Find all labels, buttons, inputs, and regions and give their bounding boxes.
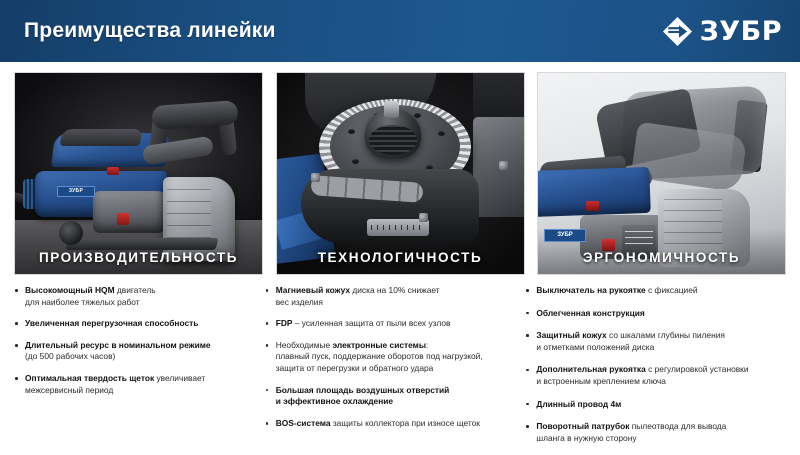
photo-hub-rings bbox=[369, 125, 417, 155]
bullet-text-bold: BOS-система bbox=[276, 418, 331, 428]
bullet-text-bold: Выключатель на рукоятке bbox=[536, 285, 645, 295]
bullet-text-line2: вес изделия bbox=[276, 297, 323, 307]
bullet-list-technology: Магниевый кожух диска на 10% снижаетвес … bbox=[265, 285, 526, 429]
bullet-text-rest: увеличивает bbox=[154, 373, 205, 383]
photo-brand-badge: ЗУБР bbox=[57, 186, 95, 197]
zubr-diamond-arrow-logo-icon bbox=[662, 16, 693, 47]
photo-gear-case bbox=[93, 191, 165, 233]
photo-base bbox=[66, 238, 219, 250]
bullet-text-rest: с регулировкой установки bbox=[646, 364, 749, 374]
card-caption-ergonomics: ЭРГОНОМИЧНОСТЬ bbox=[538, 250, 785, 265]
photo-button-2 bbox=[117, 213, 129, 225]
bullet-list-performance: Высокомощный HQM двигательдля наиболее т… bbox=[14, 285, 265, 396]
card-photo-ergonomics: ЗУБР ЭРГОНОМИЧНОСТЬ bbox=[537, 72, 786, 275]
bullet-text-bold: Оптимальная твердость щеток bbox=[25, 373, 154, 383]
bullet-text-line2: шланга в нужную сторону bbox=[536, 433, 636, 443]
page-header: Преимущества линейки ЗУБР bbox=[0, 0, 800, 62]
photo-button bbox=[107, 167, 119, 175]
bullet-text-line2: и эффективное охлаждение bbox=[276, 396, 393, 406]
card-caption-performance: ПРОИЗВОДИТЕЛЬНОСТЬ bbox=[15, 250, 262, 265]
bullet-item: Магниевый кожух диска на 10% снижаетвес … bbox=[265, 285, 526, 308]
bullet-item: FDP – усиленная защита от пыли всех узло… bbox=[265, 318, 526, 330]
bullet-text-pre: Необходимые bbox=[276, 340, 333, 350]
card-photo-technology: ТЕХНОЛОГИЧНОСТЬ bbox=[276, 72, 525, 275]
bullet-text-bold: Дополнительная рукоятка bbox=[536, 364, 645, 374]
bullet-text-rest: со шкалами глубины пиления bbox=[607, 330, 725, 340]
bullet-text-bold: FDP bbox=[276, 318, 293, 328]
bullet-text-line2: и отметками положений диска bbox=[536, 342, 654, 352]
photo-button bbox=[586, 201, 599, 211]
photo-right-block-top bbox=[473, 72, 525, 119]
column-performance: Высокомощный HQM двигательдля наиболее т… bbox=[14, 285, 265, 455]
bullet-item: Увеличенная перегрузочная способность bbox=[14, 318, 265, 330]
photo-wheel bbox=[59, 221, 83, 245]
bullet-text-bold: Облегченная конструкция bbox=[536, 308, 644, 318]
brand-wordmark: ЗУБР bbox=[700, 18, 782, 45]
features-columns: Высокомощный HQM двигательдля наиболее т… bbox=[0, 285, 800, 455]
card-performance: ЗУБР ПРОИЗВОДИТЕЛЬНОСТЬ bbox=[14, 72, 263, 275]
bullet-text-bold: электронные системы bbox=[332, 340, 426, 350]
bullet-text-rest: диска на 10% снижает bbox=[350, 285, 440, 295]
card-technology: ТЕХНОЛОГИЧНОСТЬ bbox=[276, 72, 525, 275]
photo-screw-3 bbox=[499, 161, 508, 170]
cards-row: ЗУБР ПРОИЗВОДИТЕЛЬНОСТЬ bbox=[0, 72, 800, 275]
bullet-text-rest: двигатель bbox=[115, 285, 156, 295]
bullet-text-line2: межсервисный период bbox=[25, 385, 113, 395]
card-caption-technology: ТЕХНОЛОГИЧНОСТЬ bbox=[277, 250, 524, 265]
photo-brand-badge: ЗУБР bbox=[544, 229, 586, 242]
bullet-text-bold: Магниевый кожух bbox=[276, 285, 350, 295]
bullet-text-bold: Большая площадь воздушных отверстий bbox=[276, 385, 450, 395]
photo-guard-lines bbox=[664, 199, 722, 255]
bullet-item: Большая площадь воздушных отверстийи эфф… bbox=[265, 385, 526, 408]
card-photo-performance: ЗУБР ПРОИЗВОДИТЕЛЬНОСТЬ bbox=[14, 72, 263, 275]
bullet-text-rest: : bbox=[426, 340, 428, 350]
bullet-item: Длительный ресурс в номинальном режиме(д… bbox=[14, 340, 265, 363]
bullet-item: Защитный кожух со шкалами глубины пилени… bbox=[525, 330, 786, 353]
bullet-text-line2: для наиболее тяжелых работ bbox=[25, 297, 140, 307]
bullet-text-rest: – усиленная защита от пыли всех узлов bbox=[292, 318, 450, 328]
bullet-text-line3: защита от перегрузки и обратного удара bbox=[276, 363, 434, 373]
bullet-list-ergonomics: Выключатель на рукоятке с фиксациейОблег… bbox=[525, 285, 786, 444]
bullet-text-rest: защиты коллектора при износе щеток bbox=[331, 418, 480, 428]
photo-grip bbox=[60, 129, 143, 146]
bullet-text-bold: Защитный кожух bbox=[536, 330, 606, 340]
bullet-text-line2: плавный пуск, поддержание оборотов под н… bbox=[276, 351, 483, 361]
bullet-item: Оптимальная твердость щеток увеличиваетм… bbox=[14, 373, 265, 396]
bullet-text-rest: с фиксацией bbox=[646, 285, 698, 295]
bullet-item: Облегченная конструкция bbox=[525, 308, 786, 320]
bullet-item: BOS-система защиты коллектора при износе… bbox=[265, 418, 526, 430]
bullet-item: Выключатель на рукоятке с фиксацией bbox=[525, 285, 786, 297]
bullet-item: Необходимые электронные системы:плавный … bbox=[265, 340, 526, 375]
photo-screw-2 bbox=[419, 213, 428, 222]
column-technology: Магниевый кожух диска на 10% снижаетвес … bbox=[265, 285, 526, 455]
page-title: Преимущества линейки bbox=[24, 19, 276, 43]
bullet-item: Дополнительная рукоятка с регулировкой у… bbox=[525, 364, 786, 387]
bullet-text-bold: Высокомощный HQM bbox=[25, 285, 115, 295]
bullet-text-bold: Увеличенная перегрузочная способность bbox=[25, 318, 198, 328]
column-ergonomics: Выключатель на рукоятке с фиксациейОблег… bbox=[525, 285, 786, 455]
bullet-text-bold: Длинный провод 4м bbox=[536, 399, 621, 409]
bullet-text-bold: Поворотный патрубок bbox=[536, 421, 629, 431]
photo-screw bbox=[311, 173, 320, 182]
bullet-item: Длинный провод 4м bbox=[525, 399, 786, 411]
bullet-item: Высокомощный HQM двигательдля наиболее т… bbox=[14, 285, 265, 308]
bullet-item: Поворотный патрубок пылеотвода для вывод… bbox=[525, 421, 786, 444]
bullet-text-line2: и встроенным креплением ключа bbox=[536, 376, 666, 386]
brand-logo: ЗУБР bbox=[662, 16, 782, 47]
bullet-text-rest: пылеотвода для вывода bbox=[629, 421, 726, 431]
bullet-text-bold: Длительный ресурс в номинальном режиме bbox=[25, 340, 211, 350]
photo-bolt bbox=[384, 101, 399, 118]
card-ergonomics: ЗУБР ЭРГОНОМИЧНОСТЬ bbox=[537, 72, 786, 275]
bullet-text-line2: (до 500 рабочих часов) bbox=[25, 351, 115, 361]
